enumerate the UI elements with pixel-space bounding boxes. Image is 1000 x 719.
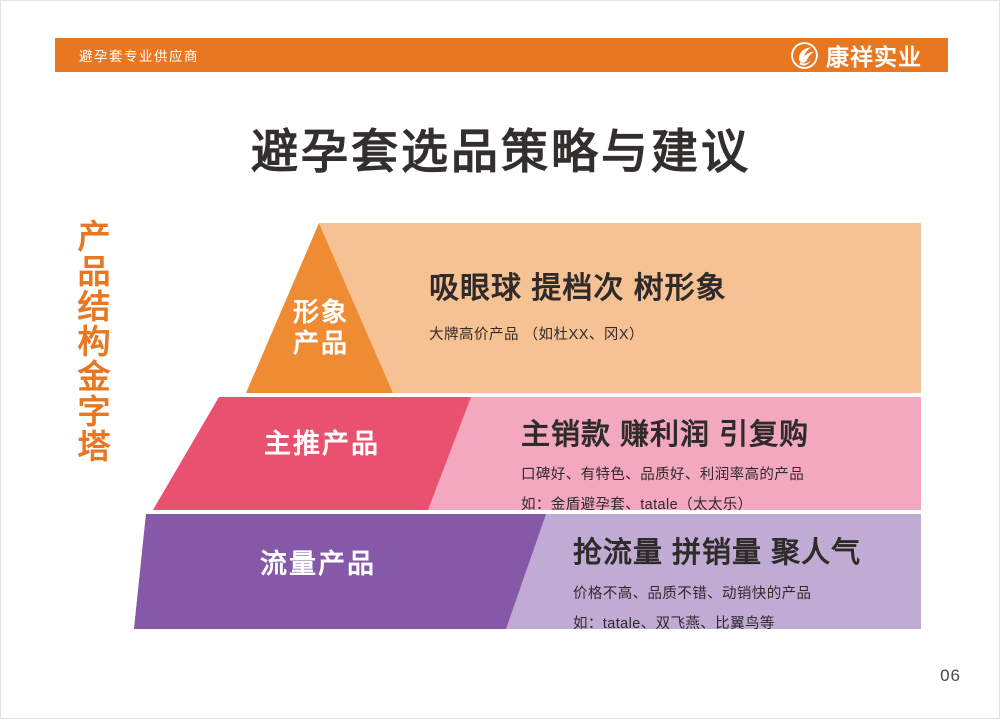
header-tagline: 避孕套专业供应商	[79, 45, 199, 65]
tier-3-subline-1: 价格不高、品质不错、动销快的产品	[573, 582, 861, 603]
tier-3-tag-line1: 流量产品	[233, 549, 403, 581]
header-banner: 避孕套专业供应商 康祥实业	[55, 38, 948, 72]
pyramid-diagram	[1, 1, 1000, 719]
tier-2-tag-line1: 主推产品	[237, 429, 407, 461]
page-title: 避孕套选品策略与建议	[1, 113, 1000, 182]
tier-3-headline: 抢流量 拼销量 聚人气	[573, 529, 861, 571]
tier-1-panel	[319, 223, 921, 393]
brand-lockup: 康祥实业	[791, 38, 922, 72]
tier-1-text-block: 吸眼球 提档次 树形象 大牌高价产品 （如杜XX、冈X）	[429, 263, 727, 344]
tier-1-subline-1: 大牌高价产品 （如杜XX、冈X）	[429, 323, 727, 344]
tier-2-headline: 主销款 赚利润 引复购	[521, 411, 809, 453]
tier-1-tag-line1: 形象	[273, 297, 369, 328]
tier-3-subline-2: 如：tatale、双飞燕、比翼鸟等	[573, 612, 861, 633]
tier-1-tag: 形象 产品	[273, 297, 369, 358]
brand-name: 康祥实业	[826, 38, 922, 72]
tier-1-headline: 吸眼球 提档次 树形象	[429, 263, 727, 307]
tier-2-text-block: 主销款 赚利润 引复购 口碑好、有特色、品质好、利润率高的产品 如：金盾避孕套、…	[521, 411, 809, 514]
page-number: 06	[940, 666, 961, 686]
tier-2-tag: 主推产品	[237, 429, 407, 461]
pyramid-side-label: 产品结构金字塔	[61, 219, 111, 464]
slide-canvas: 避孕套专业供应商 康祥实业 避孕套选品策略与建议 产品结构金字塔 形象 产品 吸…	[0, 0, 1000, 719]
tier-2-subline-1: 口碑好、有特色、品质好、利润率高的产品	[521, 463, 809, 484]
tier-1-tag-line2: 产品	[273, 328, 369, 359]
tier-3-text-block: 抢流量 拼销量 聚人气 价格不高、品质不错、动销快的产品 如：tatale、双飞…	[573, 529, 861, 633]
tier-2-subline-2: 如：金盾避孕套、tatale（太太乐）	[521, 493, 809, 514]
tier-3-tag: 流量产品	[233, 549, 403, 581]
swirl-flame-logo-icon	[791, 42, 818, 69]
